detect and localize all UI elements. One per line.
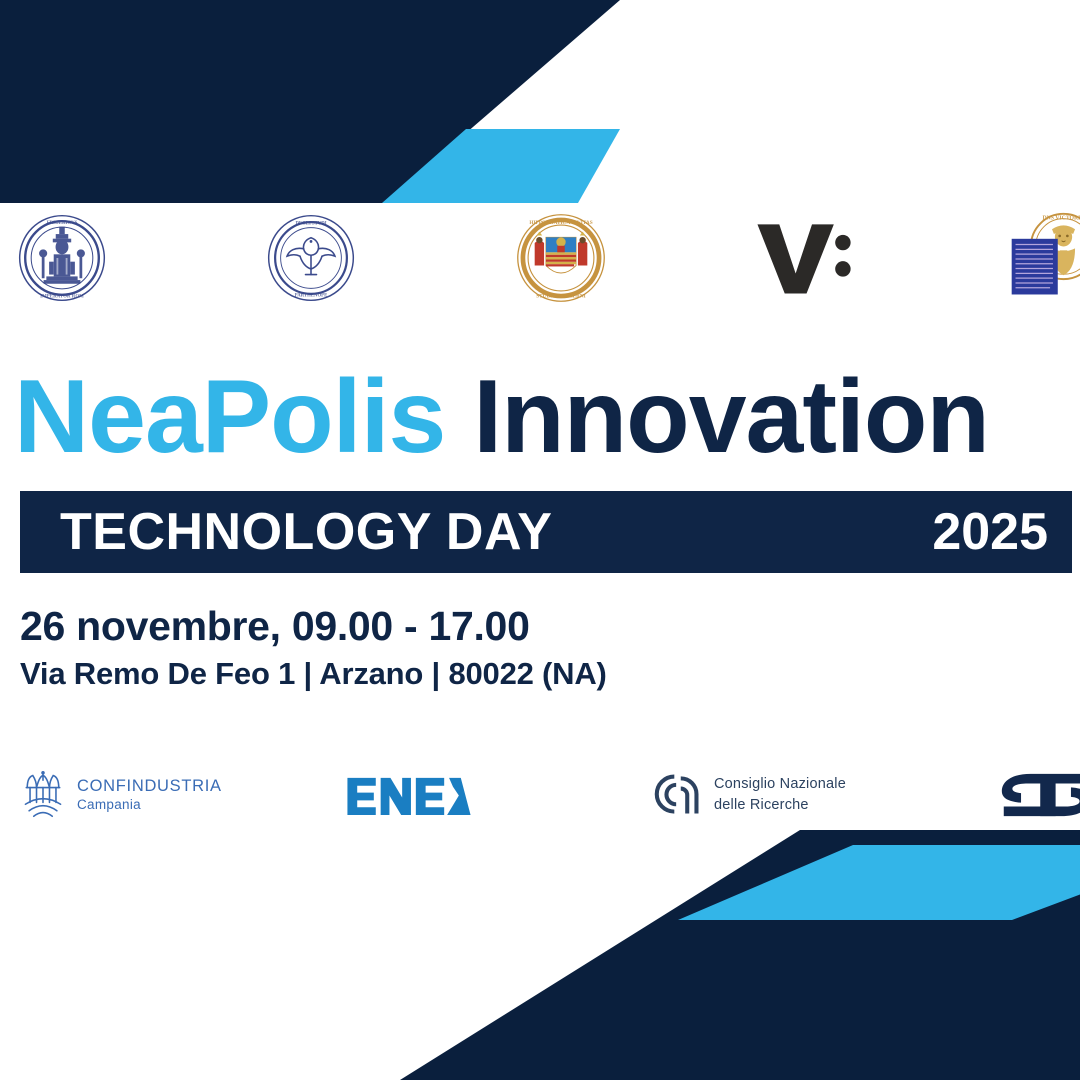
parthenope-seal-icon: DEGLI STUDI PARTHENOPE — [263, 210, 359, 306]
banner-title: TECHNOLOGY DAY — [60, 506, 552, 558]
sponsor-stmicroelectronics — [998, 760, 1080, 830]
svg-text:FRIDERICVS: FRIDERICVS — [47, 221, 78, 226]
event-details: 26 novembre, 09.00 - 17.00 Via Remo De F… — [20, 600, 607, 696]
enea-wordmark-icon — [345, 774, 473, 817]
title-innovation: Innovation — [473, 359, 989, 475]
st-swoosh-logo-icon — [998, 770, 1080, 820]
cnr-spiral-icon — [652, 771, 704, 819]
svg-text:STUDIUM SALERNI: STUDIUM SALERNI — [536, 293, 585, 299]
svg-text:DNS VICTORIA: DNS VICTORIA — [1042, 216, 1080, 222]
confindustria-region: Campania — [77, 797, 222, 814]
event-venue: Via Remo De Feo 1 | Arzano | 80022 (NA) — [20, 652, 607, 696]
cnr-name-line1: Consiglio Nazionale — [714, 774, 846, 795]
sannio-seal-icon: DNS VICTORIA — [1004, 210, 1080, 306]
title-neapolis: NeaPolis — [14, 359, 445, 475]
sponsor-confindustria: CONFINDUSTRIA Campania — [18, 760, 222, 830]
banner-year: 2025 — [932, 506, 1048, 558]
partner-university-logos: FRIDERICVS IMPERATOR ROM — [0, 210, 1080, 320]
confindustria-name: CONFINDUSTRIA — [77, 776, 222, 797]
sponsor-logos: CONFINDUSTRIA Campania — [0, 760, 1080, 840]
technology-day-banner: TECHNOLOGY DAY 2025 — [20, 491, 1072, 573]
svg-text:HIPPOCRATICA CIVITAS: HIPPOCRATICA CIVITAS — [529, 220, 592, 226]
confindustria-crown-icon — [18, 769, 68, 821]
cnr-name-line2: delle Ricerche — [714, 795, 846, 816]
unina-federico-ii-seal-icon: FRIDERICVS IMPERATOR ROM — [14, 210, 110, 306]
svg-text:DEGLI STUDI: DEGLI STUDI — [295, 221, 326, 226]
event-date-time: 26 novembre, 09.00 - 17.00 — [20, 600, 607, 652]
sponsor-enea — [345, 760, 473, 830]
vanvitelli-v-logo-icon — [752, 210, 852, 306]
sponsor-cnr: Consiglio Nazionale delle Ricerche — [652, 760, 846, 830]
page-title: NeaPolis Innovation — [14, 362, 1080, 472]
event-poster: FRIDERICVS IMPERATOR ROM — [0, 0, 1080, 1080]
unisa-seal-icon: HIPPOCRATICA CIVITAS STUDIUM SALERNI — [513, 210, 609, 306]
svg-text:IMPERATOR ROM: IMPERATOR ROM — [40, 295, 84, 300]
svg-text:PARTHENOPE: PARTHENOPE — [295, 294, 328, 299]
